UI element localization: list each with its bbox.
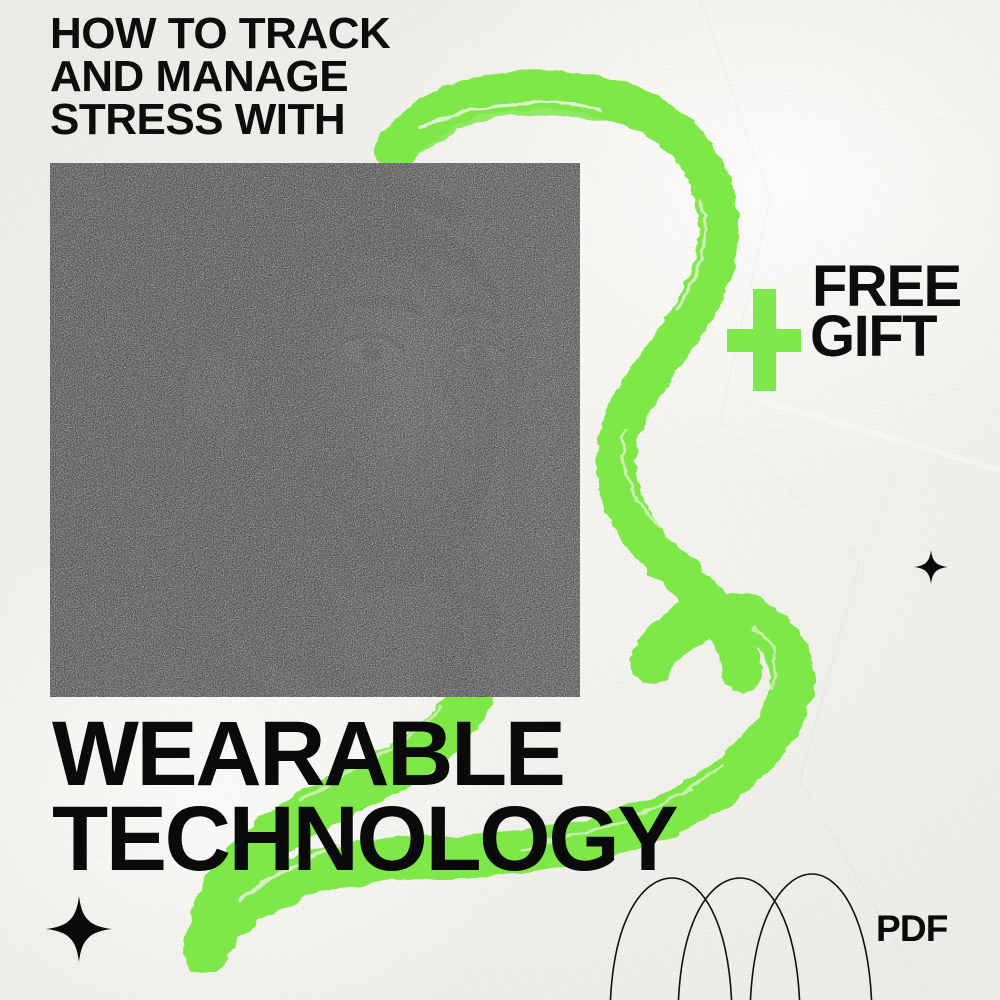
plus-icon [727, 289, 801, 391]
format-label: PDF [876, 908, 948, 950]
free-gift-badge: FREE GIFT [812, 262, 961, 363]
free-gift-line-2: GIFT [810, 312, 961, 362]
hero-photo [50, 163, 580, 697]
page-title: HOW TO TRACK AND MANAGE STRESS WITH [50, 12, 470, 141]
poster-canvas: HOW TO TRACK AND MANAGE STRESS WITH FREE… [0, 0, 1000, 1000]
plus-icon-horizontal-bar [727, 329, 801, 352]
subject-title: WEARABLE TECHNOLOGY [52, 712, 676, 881]
sparkle-icon-small [914, 550, 948, 584]
sparkle-icon [46, 896, 112, 962]
